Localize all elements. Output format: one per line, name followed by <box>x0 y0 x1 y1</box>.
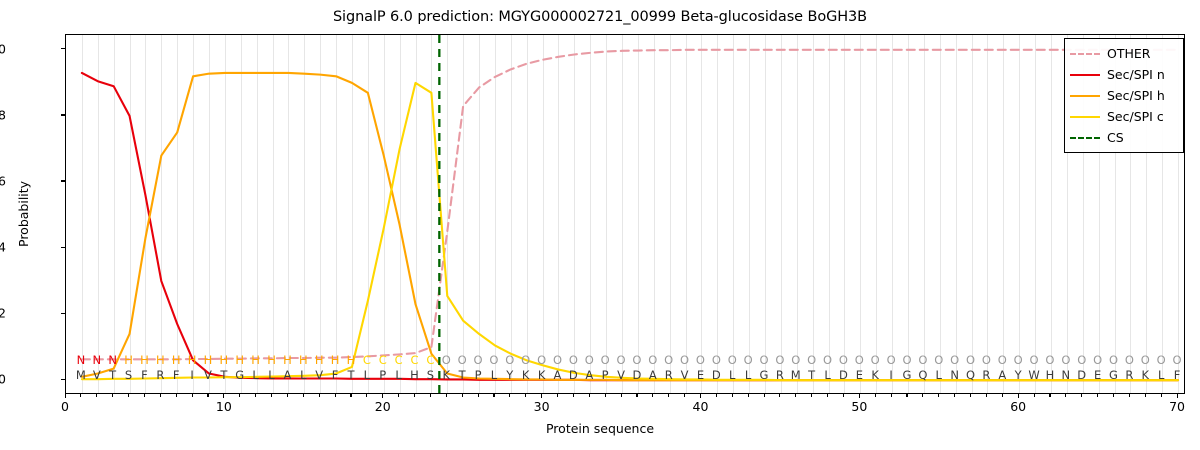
region-label: O <box>839 352 848 368</box>
region-label: O <box>489 352 498 368</box>
residue-letter: V <box>681 367 689 383</box>
residue-letter: W <box>1028 367 1039 383</box>
region-label: O <box>823 352 832 368</box>
residue-letter: P <box>379 367 386 383</box>
region-label: O <box>1061 352 1070 368</box>
region-label: H <box>156 352 165 368</box>
residue-letter: A <box>998 367 1006 383</box>
region-label: O <box>458 352 467 368</box>
x-tick-mark <box>207 394 208 397</box>
x-tick-label: 10 <box>216 399 232 414</box>
x-tick-mark <box>700 394 701 398</box>
region-label: O <box>569 352 578 368</box>
x-tick-mark <box>652 394 653 397</box>
x-tick-mark <box>525 394 526 397</box>
x-tick-mark <box>430 394 431 397</box>
x-tick-mark <box>239 394 240 397</box>
x-tick-label: 0 <box>61 399 69 414</box>
y-axis-label: Probability <box>16 181 31 247</box>
region-label: N <box>92 352 101 368</box>
region-label: H <box>267 352 276 368</box>
region-label: O <box>871 352 880 368</box>
x-tick-mark <box>684 394 685 397</box>
region-label: H <box>140 352 149 368</box>
legend-swatch-icon <box>1070 90 1100 102</box>
residue-letter: R <box>776 367 784 383</box>
region-label: O <box>855 352 864 368</box>
region-label: H <box>204 352 213 368</box>
residue-sequence-row: MVTSFRFIVTGLLALVFTLPLHSKTPLYKKADAPVDARVE… <box>0 367 1200 383</box>
region-label: O <box>585 352 594 368</box>
legend-label: CS <box>1107 130 1124 145</box>
region-label: C <box>395 352 403 368</box>
residue-letter: H <box>410 367 419 383</box>
residue-letter: Y <box>506 367 513 383</box>
x-tick-mark <box>557 394 558 397</box>
series-line-sec-spi-c <box>82 83 1178 380</box>
region-label: O <box>775 352 784 368</box>
x-tick-mark <box>668 394 669 397</box>
x-tick-mark <box>1049 394 1050 397</box>
region-label: O <box>505 352 514 368</box>
residue-letter: N <box>950 367 959 383</box>
region-label: H <box>299 352 308 368</box>
region-label: O <box>712 352 721 368</box>
x-tick-mark <box>922 394 923 397</box>
region-label: O <box>1045 352 1054 368</box>
residue-letter: L <box>824 367 830 383</box>
residue-letter: G <box>235 367 244 383</box>
residue-letter: D <box>839 367 848 383</box>
x-tick-mark <box>986 394 987 397</box>
residue-letter: A <box>283 367 291 383</box>
x-tick-mark <box>875 394 876 397</box>
x-tick-label: 50 <box>851 399 867 414</box>
region-label: O <box>1141 352 1150 368</box>
x-tick-mark <box>80 394 81 397</box>
legend-label: OTHER <box>1107 46 1150 61</box>
residue-letter: G <box>1109 367 1118 383</box>
x-tick-mark <box>938 394 939 397</box>
x-tick-mark <box>795 394 796 397</box>
x-tick-mark <box>589 394 590 397</box>
residue-letter: L <box>395 367 401 383</box>
x-tick-label: 70 <box>1169 399 1185 414</box>
region-label: O <box>950 352 959 368</box>
legend: OTHERSec/SPI nSec/SPI hSec/SPI cCS <box>1064 38 1184 153</box>
residue-letter: S <box>427 367 434 383</box>
y-tick-label: 1.0 <box>0 41 6 56</box>
series-line-other <box>82 50 1178 359</box>
residue-letter: L <box>729 367 735 383</box>
region-label: O <box>728 352 737 368</box>
residue-letter: L <box>936 367 942 383</box>
region-label: O <box>553 352 562 368</box>
region-label: O <box>601 352 610 368</box>
series-line-sec-spi-h <box>82 73 1178 380</box>
region-label: O <box>616 352 625 368</box>
legend-item[interactable]: Sec/SPI n <box>1070 64 1178 85</box>
region-label: O <box>887 352 896 368</box>
residue-letter: T <box>109 367 116 383</box>
x-tick-mark <box>906 394 907 397</box>
region-label: O <box>1093 352 1102 368</box>
residue-letter: R <box>665 367 673 383</box>
region-label: H <box>331 352 340 368</box>
residue-letter: A <box>649 367 657 383</box>
legend-swatch-icon <box>1070 111 1100 123</box>
residue-letter: F <box>1174 367 1181 383</box>
residue-letter: A <box>554 367 562 383</box>
residue-letter: F <box>173 367 180 383</box>
x-tick-mark <box>764 394 765 397</box>
x-tick-mark <box>112 394 113 397</box>
region-annotation-row: NNNHHHHHHHHHHHHHHHCCCCCOOOOOOOOOOOOOOOOO… <box>0 352 1200 368</box>
residue-letter: D <box>632 367 641 383</box>
residue-letter: E <box>856 367 863 383</box>
x-tick-mark <box>478 394 479 397</box>
legend-item[interactable]: Sec/SPI c <box>1070 106 1178 127</box>
y-tick-label: 0.8 <box>0 107 6 122</box>
legend-swatch-icon <box>1070 48 1100 60</box>
x-tick-mark <box>1113 394 1114 397</box>
region-label: O <box>1109 352 1118 368</box>
residue-letter: L <box>364 367 370 383</box>
legend-swatch-icon <box>1070 132 1100 144</box>
residue-letter: G <box>903 367 912 383</box>
residue-letter: T <box>808 367 815 383</box>
region-label: O <box>632 352 641 368</box>
residue-letter: P <box>602 367 609 383</box>
residue-letter: L <box>300 367 306 383</box>
x-tick-mark <box>573 394 574 397</box>
x-tick-mark <box>350 394 351 397</box>
series-layer <box>66 35 1185 394</box>
region-label: H <box>347 352 356 368</box>
region-label: N <box>108 352 117 368</box>
residue-letter: K <box>442 367 450 383</box>
region-label: O <box>807 352 816 368</box>
residue-letter: L <box>491 367 497 383</box>
x-tick-mark <box>1018 394 1019 398</box>
region-label: H <box>124 352 133 368</box>
residue-letter: V <box>617 367 625 383</box>
region-label: H <box>251 352 260 368</box>
region-label: O <box>648 352 657 368</box>
region-label: O <box>1077 352 1086 368</box>
x-tick-mark <box>732 394 733 397</box>
residue-letter: Q <box>918 367 927 383</box>
residue-letter: R <box>1125 367 1133 383</box>
residue-letter: D <box>569 367 578 383</box>
page-title: SignalP 6.0 prediction: MGYG000002721_00… <box>0 9 1200 25</box>
legend-item[interactable]: CS <box>1070 127 1178 148</box>
x-tick-mark <box>493 394 494 397</box>
residue-letter: F <box>332 367 339 383</box>
region-label: C <box>426 352 434 368</box>
residue-letter: L <box>745 367 751 383</box>
region-label: N <box>77 352 86 368</box>
y-tick-label: 0.6 <box>0 173 6 188</box>
x-tick-mark <box>223 394 224 398</box>
region-label: O <box>966 352 975 368</box>
residue-letter: M <box>791 367 801 383</box>
x-tick-mark <box>605 394 606 397</box>
region-label: C <box>379 352 387 368</box>
x-tick-mark <box>621 394 622 397</box>
x-tick-mark <box>366 394 367 397</box>
x-tick-mark <box>509 394 510 397</box>
region-label: C <box>363 352 371 368</box>
region-label: H <box>188 352 197 368</box>
x-tick-mark <box>287 394 288 397</box>
region-label: O <box>1125 352 1134 368</box>
x-tick-mark <box>1129 394 1130 397</box>
region-label: O <box>474 352 483 368</box>
legend-item[interactable]: Sec/SPI h <box>1070 85 1178 106</box>
x-tick-mark <box>1161 394 1162 397</box>
residue-letter: V <box>315 367 323 383</box>
residue-letter: V <box>204 367 212 383</box>
region-label: O <box>744 352 753 368</box>
residue-letter: R <box>982 367 990 383</box>
x-tick-label: 60 <box>1010 399 1026 414</box>
x-tick-mark <box>96 394 97 397</box>
legend-label: Sec/SPI c <box>1107 109 1164 124</box>
residue-letter: F <box>141 367 148 383</box>
x-tick-mark <box>192 394 193 397</box>
residue-letter: K <box>538 367 546 383</box>
residue-letter: T <box>347 367 354 383</box>
residue-letter: A <box>585 367 593 383</box>
residue-letter: E <box>1094 367 1101 383</box>
residue-letter: I <box>190 367 193 383</box>
region-label: H <box>283 352 292 368</box>
residue-letter: I <box>889 367 892 383</box>
x-tick-mark <box>462 394 463 397</box>
x-tick-mark <box>843 394 844 397</box>
residue-letter: G <box>760 367 769 383</box>
residue-letter: L <box>268 367 274 383</box>
x-tick-mark <box>319 394 320 397</box>
region-label: O <box>982 352 991 368</box>
x-tick-mark <box>827 394 828 397</box>
series-line-sec-spi-n <box>82 73 1178 380</box>
residue-letter: K <box>871 367 879 383</box>
x-tick-mark <box>748 394 749 397</box>
region-label: O <box>902 352 911 368</box>
residue-letter: T <box>220 367 227 383</box>
x-tick-mark <box>541 394 542 398</box>
legend-label: Sec/SPI n <box>1107 67 1165 82</box>
x-tick-mark <box>1145 394 1146 397</box>
x-tick-mark <box>160 394 161 397</box>
x-tick-mark <box>398 394 399 397</box>
x-tick-mark <box>811 394 812 397</box>
region-label: O <box>791 352 800 368</box>
residue-letter: R <box>156 367 164 383</box>
plot-area <box>65 34 1185 394</box>
residue-letter: T <box>459 367 466 383</box>
x-tick-mark <box>636 394 637 397</box>
x-tick-mark <box>1177 394 1178 398</box>
x-tick-mark <box>335 394 336 397</box>
region-label: H <box>220 352 229 368</box>
x-tick-mark <box>446 394 447 397</box>
residue-letter: K <box>1141 367 1149 383</box>
region-label: C <box>410 352 418 368</box>
x-tick-mark <box>716 394 717 397</box>
region-label: H <box>172 352 181 368</box>
x-tick-label: 20 <box>375 399 391 414</box>
residue-letter: H <box>1046 367 1055 383</box>
x-tick-mark <box>1081 394 1082 397</box>
x-tick-mark <box>414 394 415 397</box>
region-label: O <box>680 352 689 368</box>
x-tick-mark <box>891 394 892 397</box>
region-label: O <box>1173 352 1182 368</box>
legend-label: Sec/SPI h <box>1107 88 1165 103</box>
residue-letter: S <box>125 367 132 383</box>
residue-letter: L <box>1158 367 1164 383</box>
region-label: O <box>521 352 530 368</box>
x-tick-mark <box>255 394 256 397</box>
residue-letter: K <box>522 367 530 383</box>
residue-letter: D <box>712 367 721 383</box>
region-label: O <box>664 352 673 368</box>
x-tick-label: 30 <box>534 399 550 414</box>
x-tick-mark <box>271 394 272 397</box>
region-label: O <box>759 352 768 368</box>
legend-item[interactable]: OTHER <box>1070 43 1178 64</box>
region-label: O <box>1157 352 1166 368</box>
x-tick-mark <box>382 394 383 398</box>
legend-swatch-icon <box>1070 69 1100 81</box>
x-tick-mark <box>144 394 145 397</box>
residue-letter: Y <box>1015 367 1022 383</box>
region-label: O <box>442 352 451 368</box>
region-label: O <box>537 352 546 368</box>
region-label: H <box>315 352 324 368</box>
y-tick-label: 0.4 <box>0 240 6 255</box>
signalp-prediction-figure: SignalP 6.0 prediction: MGYG000002721_00… <box>0 0 1200 450</box>
region-label: H <box>235 352 244 368</box>
y-tick-label: 0.2 <box>0 306 6 321</box>
x-tick-label: 40 <box>693 399 709 414</box>
region-label: O <box>998 352 1007 368</box>
residue-letter: M <box>76 367 86 383</box>
region-label: O <box>696 352 705 368</box>
residue-letter: V <box>93 367 101 383</box>
residue-letter: D <box>1077 367 1086 383</box>
plot-inner <box>66 35 1184 393</box>
x-tick-mark <box>1065 394 1066 397</box>
x-tick-mark <box>1002 394 1003 397</box>
x-tick-mark <box>779 394 780 397</box>
region-label: O <box>934 352 943 368</box>
region-label: O <box>918 352 927 368</box>
x-tick-mark <box>1034 394 1035 397</box>
region-label: O <box>1014 352 1023 368</box>
residue-letter: L <box>252 367 258 383</box>
x-tick-mark <box>954 394 955 397</box>
x-tick-mark <box>128 394 129 397</box>
residue-letter: E <box>697 367 704 383</box>
x-tick-mark <box>1097 394 1098 397</box>
residue-letter: P <box>475 367 482 383</box>
x-tick-mark <box>65 394 66 398</box>
x-tick-mark <box>859 394 860 398</box>
x-tick-mark <box>303 394 304 397</box>
residue-letter: Q <box>966 367 975 383</box>
x-tick-mark <box>970 394 971 397</box>
residue-letter: N <box>1062 367 1071 383</box>
x-tick-mark <box>176 394 177 397</box>
x-axis-label: Protein sequence <box>0 421 1200 436</box>
region-label: O <box>1030 352 1039 368</box>
